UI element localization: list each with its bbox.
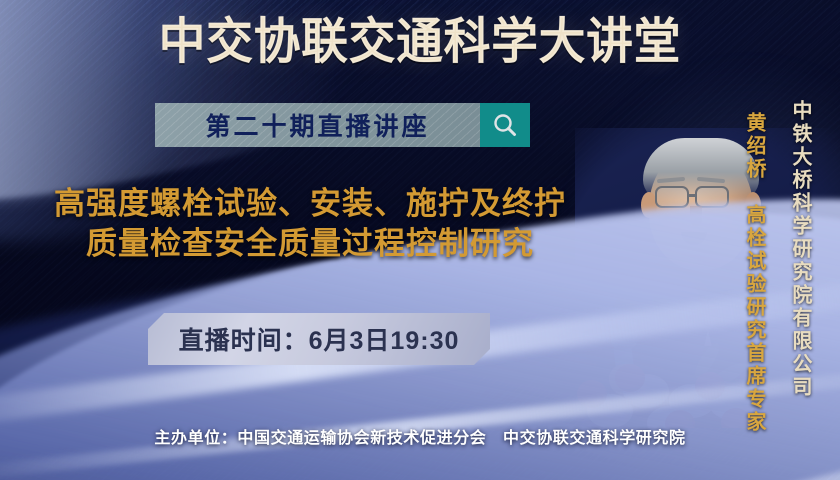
speaker-name-role: 黄绍桥 高栓试验研究首席专家 <box>740 112 769 434</box>
search-input[interactable]: 第二十期直播讲座 <box>155 103 480 147</box>
lecture-subject-line-2: 质量检查安全质量过程控制研究 <box>10 224 610 264</box>
organizer-footer: 主办单位：中国交通运输协会新技术促进分会 中交协联交通科学研究院 <box>0 424 840 448</box>
lecture-subject-line-1: 高强度螺栓试验、安装、施拧及终拧 <box>10 184 610 224</box>
glasses-lens-left <box>655 186 689 208</box>
live-time-text: 直播时间：6月3日19:30 <box>179 321 460 357</box>
lecture-subject: 高强度螺栓试验、安装、施拧及终拧 质量检查安全质量过程控制研究 <box>10 184 610 265</box>
glasses-bridge <box>689 194 697 197</box>
page-title: 中交协联交通科学大讲堂 <box>21 18 819 67</box>
live-time-badge: 直播时间：6月3日19:30 <box>148 313 490 365</box>
speaker-organization: 中铁大桥科学研究院有限公司 <box>786 100 815 399</box>
search-icon <box>491 111 519 139</box>
search-input-value: 第二十期直播讲座 <box>205 107 429 143</box>
search-bar[interactable]: 第二十期直播讲座 <box>155 103 530 147</box>
search-button[interactable] <box>480 103 530 147</box>
live-lecture-poster: 中交协联交通科学大讲堂 第二十期直播讲座 高强度螺栓试验、安装、施拧及终拧 质量… <box>0 0 840 480</box>
